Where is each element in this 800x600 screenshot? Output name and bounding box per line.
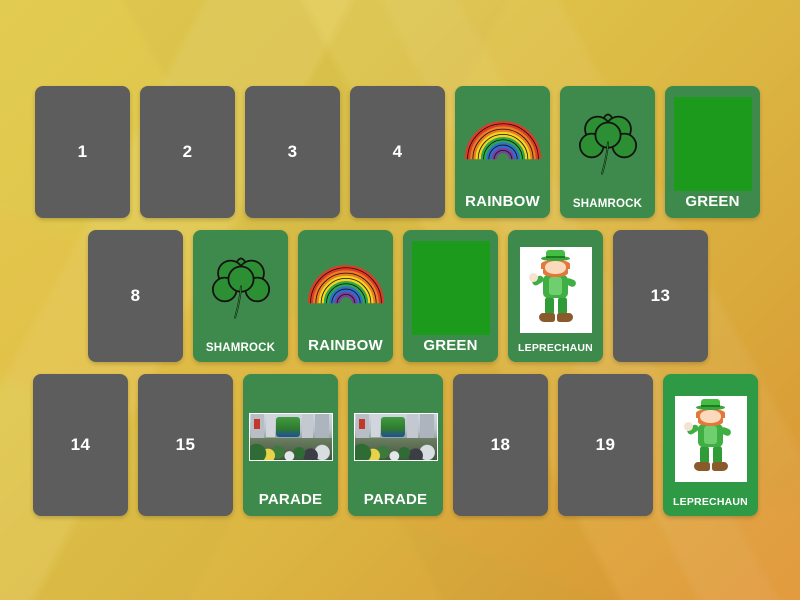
card-face-up[interactable]: PARADE [243, 374, 338, 516]
card-face-up[interactable]: GREEN [403, 230, 498, 362]
leprechaun-photo [520, 247, 592, 333]
card-row-1: 1234RAINBOWSHAMROCKGREEN [0, 86, 800, 218]
card-number: 13 [651, 286, 671, 306]
rainbow-icon [307, 264, 385, 312]
card-label: PARADE [364, 491, 427, 510]
card-row-2: 8SHAMROCKRAINBOWGREENLEPRECHAUN13 [0, 230, 800, 362]
card-face-down[interactable]: 4 [350, 86, 445, 218]
card-face-up[interactable]: LEPRECHAUN [508, 230, 603, 362]
green-swatch [674, 97, 752, 191]
card-face-up[interactable]: LEPRECHAUN [663, 374, 758, 516]
card-number: 3 [288, 142, 298, 162]
card-number: 18 [491, 435, 511, 455]
card-face-down[interactable]: 3 [245, 86, 340, 218]
card-number: 1 [78, 142, 88, 162]
card-art [247, 382, 334, 491]
card-art [197, 238, 284, 342]
rainbow-icon [464, 120, 542, 168]
card-row-3: 1415PARADEPARADE1819LEPRECHAUN [0, 374, 800, 516]
card-art [407, 238, 494, 337]
card-face-down[interactable]: 1 [35, 86, 130, 218]
card-art [512, 238, 599, 342]
card-face-up[interactable]: RAINBOW [298, 230, 393, 362]
card-face-up[interactable]: SHAMROCK [560, 86, 655, 218]
leprechaun-photo [675, 396, 747, 482]
card-art [352, 382, 439, 491]
card-label: GREEN [685, 193, 739, 212]
card-number: 19 [596, 435, 616, 455]
card-label: RAINBOW [308, 337, 383, 356]
card-face-down[interactable]: 14 [33, 374, 128, 516]
card-label: LEPRECHAUN [518, 342, 593, 356]
green-swatch [412, 241, 490, 335]
card-face-down[interactable]: 8 [88, 230, 183, 362]
card-face-down[interactable]: 19 [558, 374, 653, 516]
card-face-up[interactable]: SHAMROCK [193, 230, 288, 362]
card-label: LEPRECHAUN [673, 496, 748, 510]
card-art [564, 94, 651, 198]
shamrock-icon [204, 251, 278, 330]
card-number: 14 [71, 435, 91, 455]
shamrock-icon [571, 107, 645, 186]
card-face-down[interactable]: 2 [140, 86, 235, 218]
card-art [302, 238, 389, 337]
parade-photo [354, 413, 438, 461]
card-number: 2 [183, 142, 193, 162]
card-grid: 1234RAINBOWSHAMROCKGREEN 8SHAMROCKRAINBO… [0, 0, 800, 600]
card-face-down[interactable]: 18 [453, 374, 548, 516]
card-art [669, 94, 756, 193]
card-face-down[interactable]: 13 [613, 230, 708, 362]
card-label: PARADE [259, 491, 322, 510]
card-label: GREEN [423, 337, 477, 356]
card-label: RAINBOW [465, 193, 540, 212]
card-label: SHAMROCK [206, 342, 275, 356]
card-art [459, 94, 546, 193]
card-number: 8 [131, 286, 141, 306]
parade-photo [249, 413, 333, 461]
card-face-up[interactable]: PARADE [348, 374, 443, 516]
card-face-up[interactable]: RAINBOW [455, 86, 550, 218]
card-face-down[interactable]: 15 [138, 374, 233, 516]
card-number: 15 [176, 435, 196, 455]
card-number: 4 [393, 142, 403, 162]
card-art [667, 382, 754, 496]
card-label: SHAMROCK [573, 198, 642, 212]
card-face-up[interactable]: GREEN [665, 86, 760, 218]
